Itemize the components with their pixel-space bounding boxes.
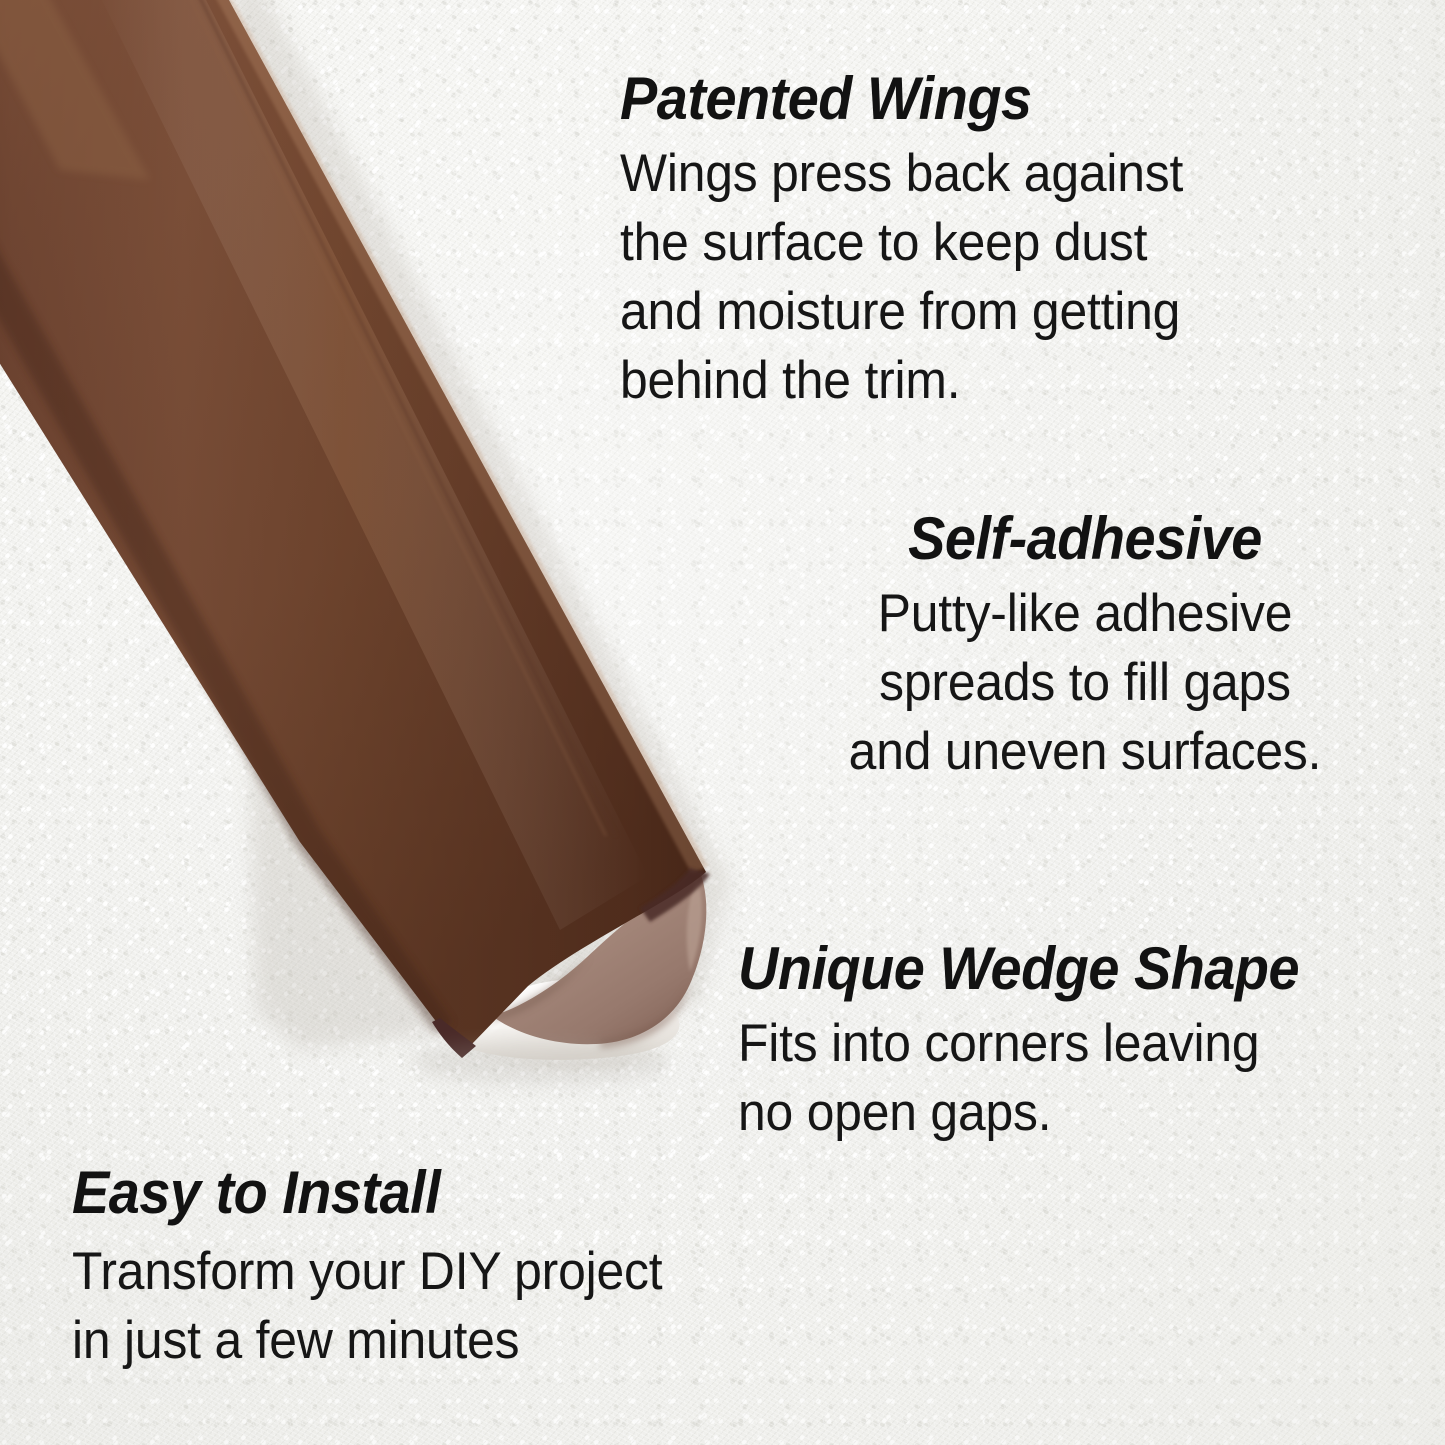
callout-heading-unique-wedge-shape: Unique Wedge Shape [738, 938, 1299, 1000]
callout-body-line: Transform your DIY project [72, 1238, 662, 1307]
callout-patented-wings: Patented Wings Wings press back against … [620, 68, 1219, 416]
callout-heading-patented-wings: Patented Wings [620, 68, 1177, 130]
callout-unique-wedge-shape: Unique Wedge Shape Fits into corners lea… [738, 938, 1341, 1148]
callout-heading-easy-to-install: Easy to Install [72, 1162, 656, 1224]
infographic-canvas: Patented Wings Wings press back against … [0, 0, 1445, 1445]
tip-contact-shadow [410, 1040, 670, 1084]
callout-body-self-adhesive: Putty-like adhesive spreads to fill gaps… [808, 580, 1363, 787]
callout-body-line: behind the trim. [620, 347, 1183, 416]
callout-body-unique-wedge-shape: Fits into corners leaving no open gaps. [738, 1010, 1305, 1148]
callout-body-line: spreads to fill gaps [808, 649, 1363, 718]
callout-body-line: and uneven surfaces. [808, 718, 1363, 787]
callout-body-line: Putty-like adhesive [808, 580, 1363, 649]
callout-body-line: Wings press back against [620, 140, 1183, 209]
callout-body-line: in just a few minutes [72, 1307, 662, 1376]
brown-face [0, 0, 710, 1058]
callout-easy-to-install: Easy to Install Transform your DIY proje… [72, 1162, 700, 1376]
callout-body-line: no open gaps. [738, 1079, 1305, 1148]
callout-self-adhesive: Self-adhesive Putty-like adhesive spread… [790, 508, 1380, 787]
callout-body-patented-wings: Wings press back against the surface to … [620, 140, 1183, 416]
callout-body-line: the surface to keep dust [620, 209, 1183, 278]
callout-body-line: and moisture from getting [620, 278, 1183, 347]
callout-heading-self-adhesive: Self-adhesive [811, 508, 1360, 570]
callout-body-line: Fits into corners leaving [738, 1010, 1305, 1079]
callout-body-easy-to-install: Transform your DIY project in just a few… [72, 1238, 662, 1376]
